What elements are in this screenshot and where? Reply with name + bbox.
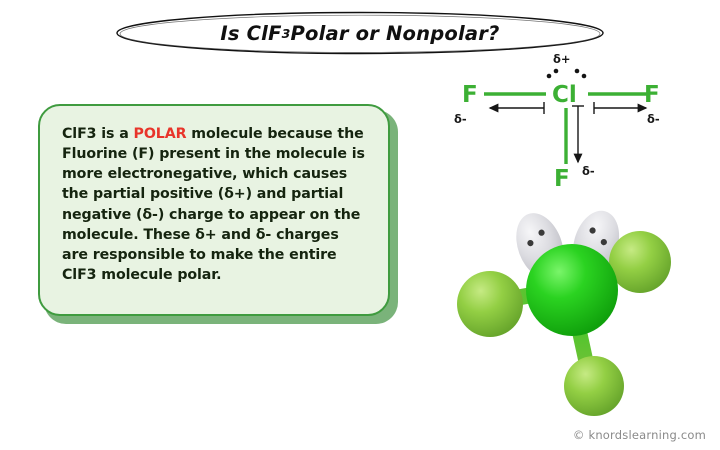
model-atom-f-bottom [564, 356, 624, 416]
model-atom-f-left [457, 271, 523, 337]
molecule-3d-model [432, 198, 704, 416]
charge-label-delta-minus-right: δ- [647, 114, 660, 126]
model-atom-f-upper-right [609, 231, 671, 293]
infographic-page: Is ClF3 Polar or Nonpolar? ClF3 is a POL… [0, 0, 720, 450]
charge-label-delta-plus: δ+ [553, 54, 571, 66]
explanation-text-part1: ClF3 is a [62, 126, 134, 142]
dipole-arrows [490, 102, 646, 162]
charge-label-delta-minus-left: δ- [454, 114, 467, 126]
title-banner: Is ClF3 Polar or Nonpolar? [112, 8, 608, 58]
molecule-3d-svg [432, 198, 704, 416]
lewis-structure-svg [448, 52, 704, 204]
lone-pair-dot [554, 69, 559, 74]
title-suffix: Polar or Nonpolar? [290, 22, 499, 45]
title-subscript: 3 [282, 26, 291, 41]
lone-pair-dot [582, 74, 587, 79]
lone-pair-dot [575, 69, 580, 74]
watermark-credit: © knordslearning.com [0, 428, 706, 442]
explanation-box: ClF3 is a POLAR molecule because the Flu… [38, 104, 390, 316]
lone-pair-dot [547, 74, 552, 79]
explanation-text-part2: molecule because the Fluorine (F) presen… [62, 126, 365, 283]
explanation-highlight-polar: POLAR [134, 126, 187, 142]
lewis-atom-f-right: F [644, 84, 660, 107]
page-title: Is ClF3 Polar or Nonpolar? [112, 8, 608, 58]
explanation-text: ClF3 is a POLAR molecule because the Flu… [62, 124, 368, 285]
lone-pair-dots [547, 69, 587, 79]
model-atom-cl-center [526, 244, 618, 336]
charge-label-delta-minus-bottom: δ- [582, 166, 595, 178]
lewis-atom-f-left: F [462, 84, 478, 107]
lewis-structure-diagram: Cl F F F δ+ δ- δ- δ- [448, 52, 704, 204]
lewis-atom-cl: Cl [552, 84, 577, 107]
title-prefix: Is ClF [220, 22, 281, 45]
lewis-atom-f-bottom: F [554, 168, 570, 191]
